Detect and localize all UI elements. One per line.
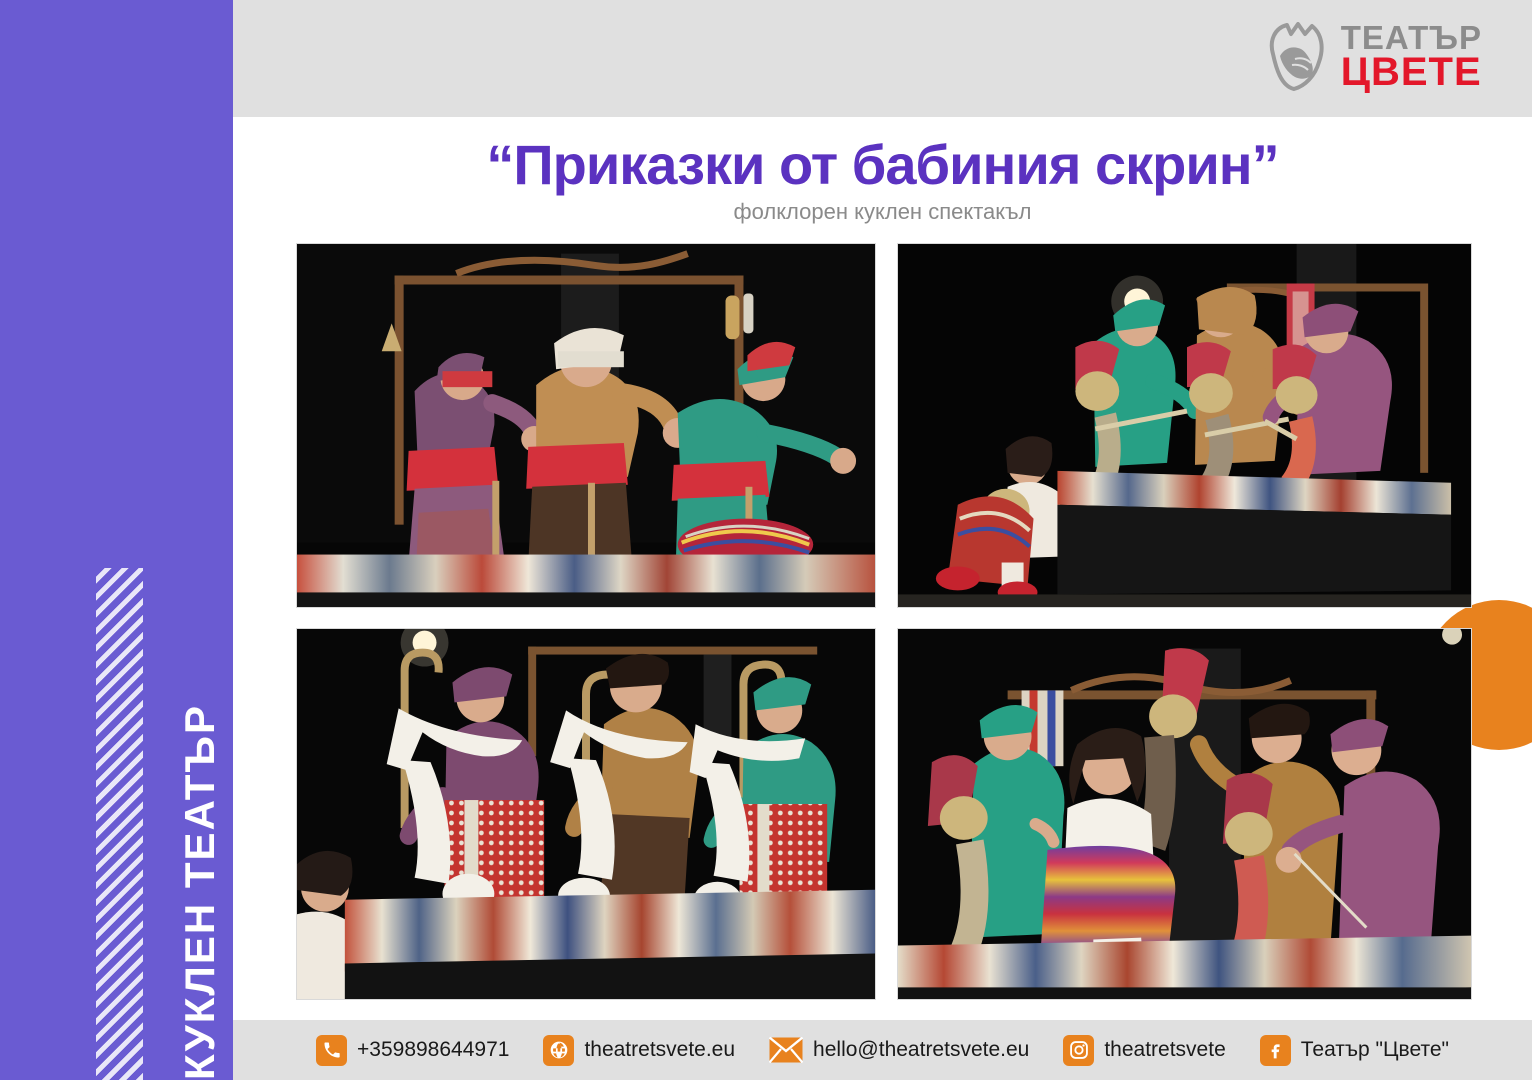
- instagram-icon: [1063, 1035, 1094, 1066]
- dove-hand-icon: [1265, 22, 1327, 92]
- page-title: “Приказки от бабиния скрин”: [233, 136, 1532, 195]
- brand-name-bottom: ЦВЕТЕ: [1341, 54, 1482, 91]
- sidebar-vertical-label: КУКЛЕН ТЕАТЪР: [179, 678, 221, 1080]
- gallery-photo-top-left[interactable]: [296, 243, 876, 608]
- contact-phone[interactable]: +359898644971: [316, 1035, 509, 1066]
- sidebar-vertical-label-wrap: КУКЛЕН ТЕАТЪР: [0, 0, 233, 1080]
- contact-email-text: hello@theatretsvete.eu: [813, 1038, 1029, 1062]
- title-block: “Приказки от бабиния скрин” фолклорен ку…: [233, 118, 1532, 243]
- contact-facebook-text: Театър "Цвете": [1301, 1038, 1449, 1062]
- contact-instagram[interactable]: theatretsvete: [1063, 1035, 1225, 1066]
- facebook-icon: [1260, 1035, 1291, 1066]
- gallery-photo-bottom-left[interactable]: [296, 628, 876, 1000]
- globe-icon: [543, 1035, 574, 1066]
- phone-icon: [316, 1035, 347, 1066]
- left-purple-band: КУКЛЕН ТЕАТЪР: [0, 0, 233, 1080]
- gallery-photo-top-right[interactable]: [897, 243, 1472, 608]
- page-subtitle: фолклорен куклен спектакъл: [233, 199, 1532, 225]
- footer-contact-bar: +359898644971 theatretsvete.eu hello@the…: [233, 1020, 1532, 1080]
- brand-wordmark: ТЕАТЪР ЦВЕТЕ: [1341, 23, 1482, 90]
- contact-instagram-text: theatretsvete: [1104, 1038, 1225, 1062]
- contact-website[interactable]: theatretsvete.eu: [543, 1035, 735, 1066]
- envelope-icon: [769, 1037, 803, 1063]
- contact-email[interactable]: hello@theatretsvete.eu: [769, 1037, 1029, 1063]
- photo-gallery-grid: [296, 243, 1472, 1000]
- gallery-photo-bottom-right[interactable]: [897, 628, 1472, 1000]
- contact-facebook[interactable]: Театър "Цвете": [1260, 1035, 1449, 1066]
- contact-phone-text: +359898644971: [357, 1038, 509, 1062]
- brand-logo: ТЕАТЪР ЦВЕТЕ: [1265, 22, 1482, 92]
- contact-website-text: theatretsvete.eu: [584, 1038, 735, 1062]
